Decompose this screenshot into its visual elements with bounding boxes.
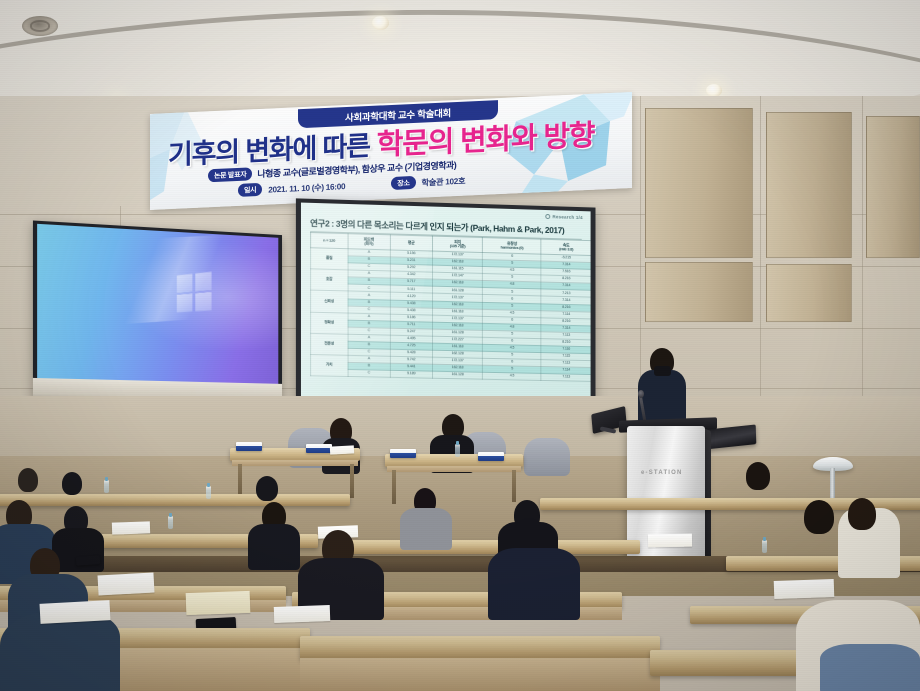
foreground-desk-front — [300, 658, 660, 691]
place-pill: 장소 — [391, 176, 415, 190]
panel-table-leg — [392, 470, 396, 504]
slide-watermark-text: Research 1/4 — [552, 214, 582, 220]
attendee-head — [848, 498, 876, 530]
attendee-head — [256, 476, 278, 501]
attendee-head — [18, 468, 38, 492]
ceiling-downlight — [372, 16, 389, 30]
ceiling-vent — [22, 16, 58, 36]
table-row-group-label: 전문성 — [311, 333, 348, 355]
wall-cabinet-door — [766, 112, 852, 258]
table-column-header: 피치(135 기준) — [432, 236, 482, 252]
wall-cabinet-door — [645, 108, 753, 258]
smartphone[interactable] — [76, 555, 101, 566]
panel-table-leg — [512, 470, 516, 502]
table-column-header: 유창성harmonics (0) — [483, 238, 541, 255]
research-badge-icon — [546, 214, 551, 219]
table-row-group-label: 신뢰성 — [311, 290, 348, 312]
audience-desk-row — [330, 540, 640, 554]
panel-table-left-front — [232, 460, 358, 466]
windows-logo-icon — [176, 271, 211, 312]
foreground-desk — [300, 636, 660, 660]
table-column-header: 속도(rate 3.8) — [541, 239, 590, 255]
water-bottle — [104, 480, 109, 493]
attendee-body — [0, 612, 120, 691]
date-text: 2021. 11. 10 (수) 16:00 — [268, 180, 345, 195]
table-row-group-label: 호감 — [311, 269, 348, 291]
lectern-brand-label: e-STATION — [641, 470, 683, 476]
uplight-lamp-pole — [830, 468, 835, 500]
audience-desk-row — [0, 494, 350, 506]
lecture-hall-photo: 사회과학대학 교수 학술대회 기후의 변화에 따른 학문의 변화와 방향 논문 … — [0, 0, 920, 691]
handout-paper — [274, 605, 331, 623]
table-cell: C — [348, 370, 390, 378]
wall-cabinet-door — [866, 116, 920, 258]
handout-paper — [112, 521, 150, 534]
slide-data-table: n = 120피드백(화자)평균피치(135 기준)유창성harmonics (… — [310, 232, 590, 382]
table-column-header: 피드백(화자) — [348, 234, 390, 250]
table-cell: 4.5 — [483, 373, 541, 381]
date-pill: 일시 — [238, 183, 262, 197]
name-placard — [478, 452, 504, 461]
panel-table-right-front — [387, 466, 521, 472]
table-column-header: n = 120 — [311, 233, 348, 249]
name-placard — [390, 449, 416, 458]
microphone-icon — [638, 390, 644, 398]
presenter-pill: 논문 발표자 — [208, 167, 252, 182]
left-projection-screen — [33, 220, 282, 405]
handout-paper — [648, 534, 692, 548]
name-placard — [306, 444, 332, 453]
table-cell: 161.128 — [432, 371, 482, 379]
attendee-body — [248, 524, 300, 570]
place-text: 학술관 102호 — [422, 174, 466, 188]
table-row-group-label: 품질 — [311, 248, 348, 270]
water-bottle — [762, 540, 767, 553]
attendee-head — [62, 472, 82, 495]
handout-paper — [40, 600, 111, 624]
windows-desktop-wallpaper — [37, 224, 278, 384]
right-projection-screen: Research 1/4 연구2 : 3명의 다른 목소리는 다르게 인지 되는… — [296, 198, 596, 419]
presenter-mask — [654, 366, 671, 376]
attendee-body — [820, 644, 920, 691]
table-cell: 7.113 — [541, 374, 590, 382]
wall-seam — [760, 96, 761, 432]
wallpaper-light-streak — [84, 234, 259, 326]
attendee-head — [746, 462, 770, 490]
handout-paper — [774, 579, 835, 599]
water-bottle — [168, 516, 173, 529]
handout-paper — [98, 573, 155, 596]
wall-seam — [862, 96, 863, 432]
table-row-group-label: 가치 — [311, 355, 348, 377]
empty-chair — [524, 438, 570, 476]
table-cell: 5.189 — [390, 371, 432, 379]
water-bottle — [206, 486, 211, 499]
name-placard — [236, 442, 262, 451]
handout-paper — [330, 445, 354, 454]
attendee-body — [400, 508, 452, 550]
table-row-group-label: 정확성 — [311, 312, 348, 334]
table-column-header: 평균 — [390, 235, 432, 251]
attendee-body — [488, 548, 580, 620]
notebook-page — [186, 591, 251, 615]
wall-cabinet-door — [645, 262, 753, 322]
wall-cabinet-door — [766, 264, 852, 322]
attendee-head — [804, 500, 834, 534]
presentation-slide: Research 1/4 연구2 : 3명의 다른 목소리는 다르게 인지 되는… — [301, 203, 591, 415]
slide-watermark: Research 1/4 — [546, 214, 583, 220]
panel-table-leg — [350, 464, 354, 498]
water-bottle — [455, 444, 460, 457]
